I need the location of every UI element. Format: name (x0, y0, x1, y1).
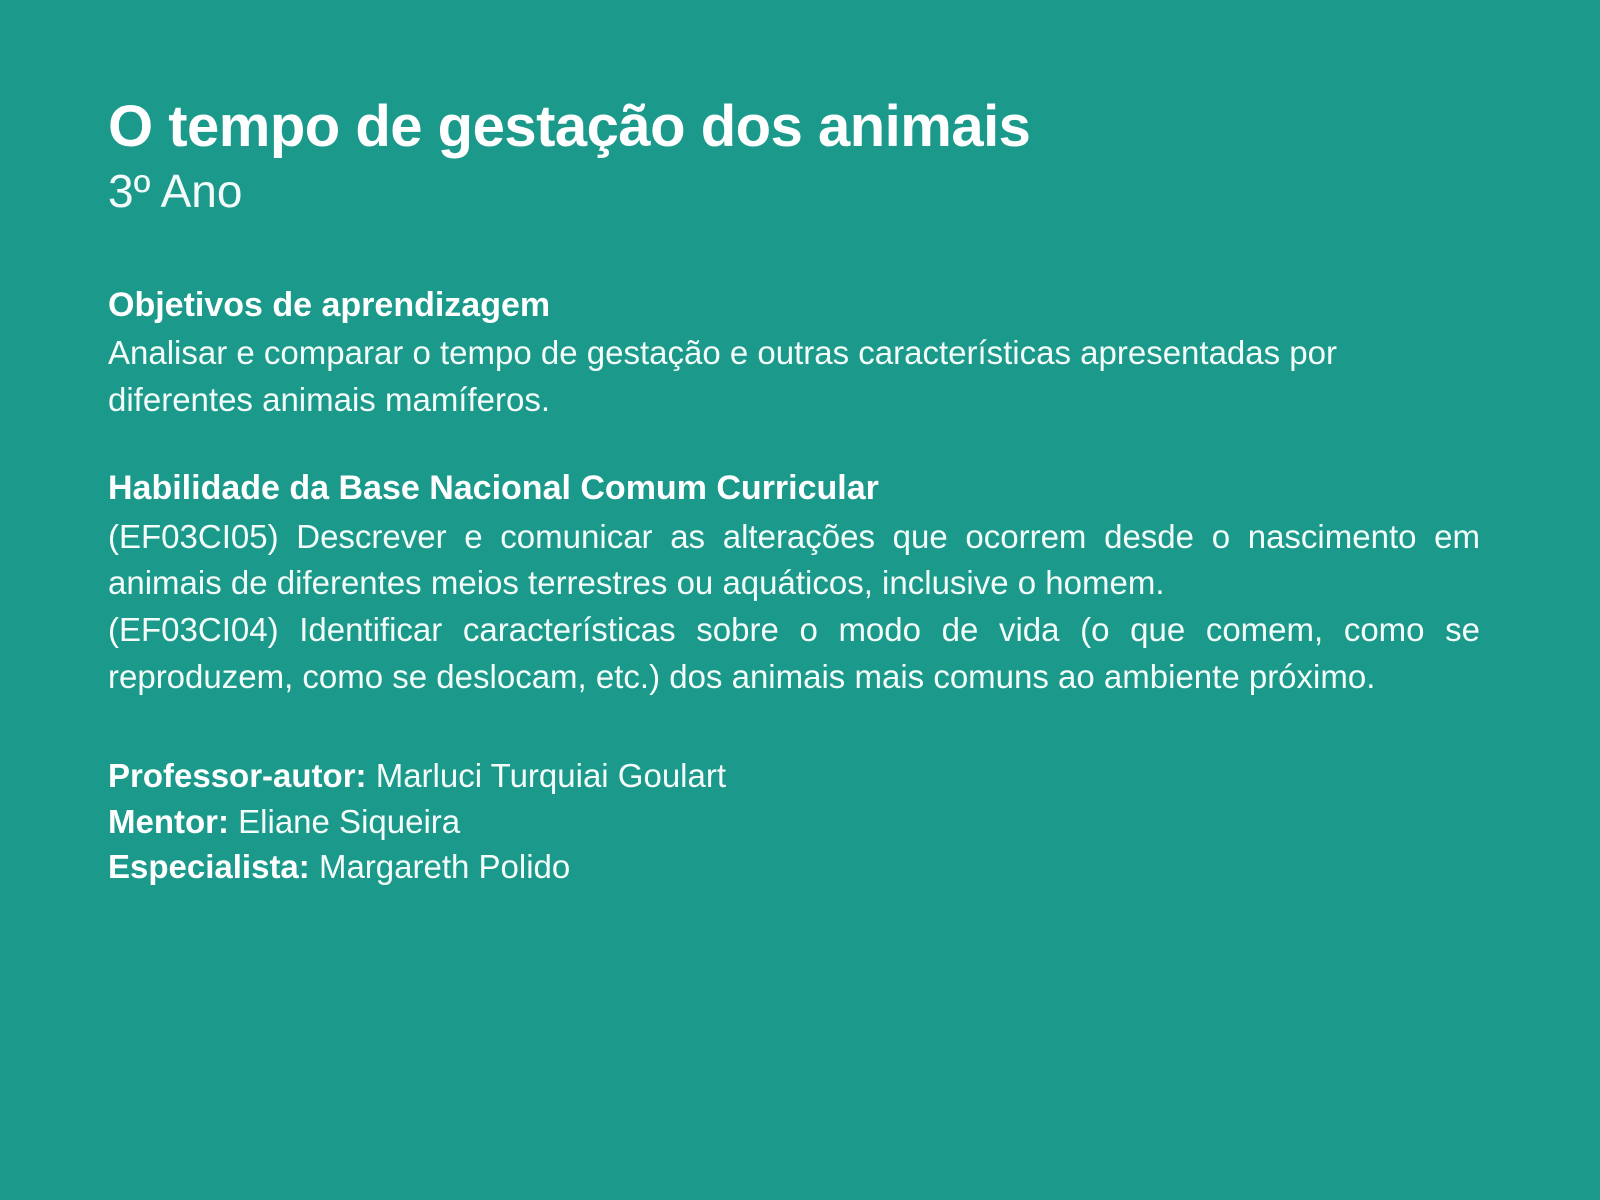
section-learning-objectives: Objetivos de aprendizagem Analisar e com… (108, 285, 1492, 424)
page-title: O tempo de gestação dos animais (108, 96, 1492, 157)
bncc-heading: Habilidade da Base Nacional Comum Curric… (108, 468, 1492, 509)
objectives-text: Analisar e comparar o tempo de gestação … (108, 330, 1480, 424)
credit-row: Mentor: Eliane Siqueira (108, 799, 1492, 845)
slide-root: O tempo de gestação dos animais 3º Ano O… (0, 0, 1600, 1200)
bncc-skill-item: (EF03CI04) Identificar características s… (108, 607, 1480, 701)
page-subtitle: 3º Ano (108, 163, 1492, 221)
credit-value-mentor: Eliane Siqueira (238, 803, 460, 840)
objectives-heading: Objetivos de aprendizagem (108, 285, 1492, 326)
credit-label-especialista: Especialista: (108, 848, 310, 885)
credit-value-professor-autor: Marluci Turquiai Goulart (376, 757, 726, 794)
section-bncc: Habilidade da Base Nacional Comum Curric… (108, 468, 1492, 701)
bncc-skill-item: (EF03CI05) Descrever e comunicar as alte… (108, 514, 1480, 608)
credit-label-mentor: Mentor: (108, 803, 229, 840)
credit-row: Especialista: Margareth Polido (108, 844, 1492, 890)
section-credits: Professor-autor: Marluci Turquiai Goular… (108, 753, 1492, 890)
credit-label-professor-autor: Professor-autor: (108, 757, 367, 794)
slide-header: O tempo de gestação dos animais 3º Ano (108, 0, 1492, 221)
credit-row: Professor-autor: Marluci Turquiai Goular… (108, 753, 1492, 799)
credit-value-especialista: Margareth Polido (319, 848, 570, 885)
